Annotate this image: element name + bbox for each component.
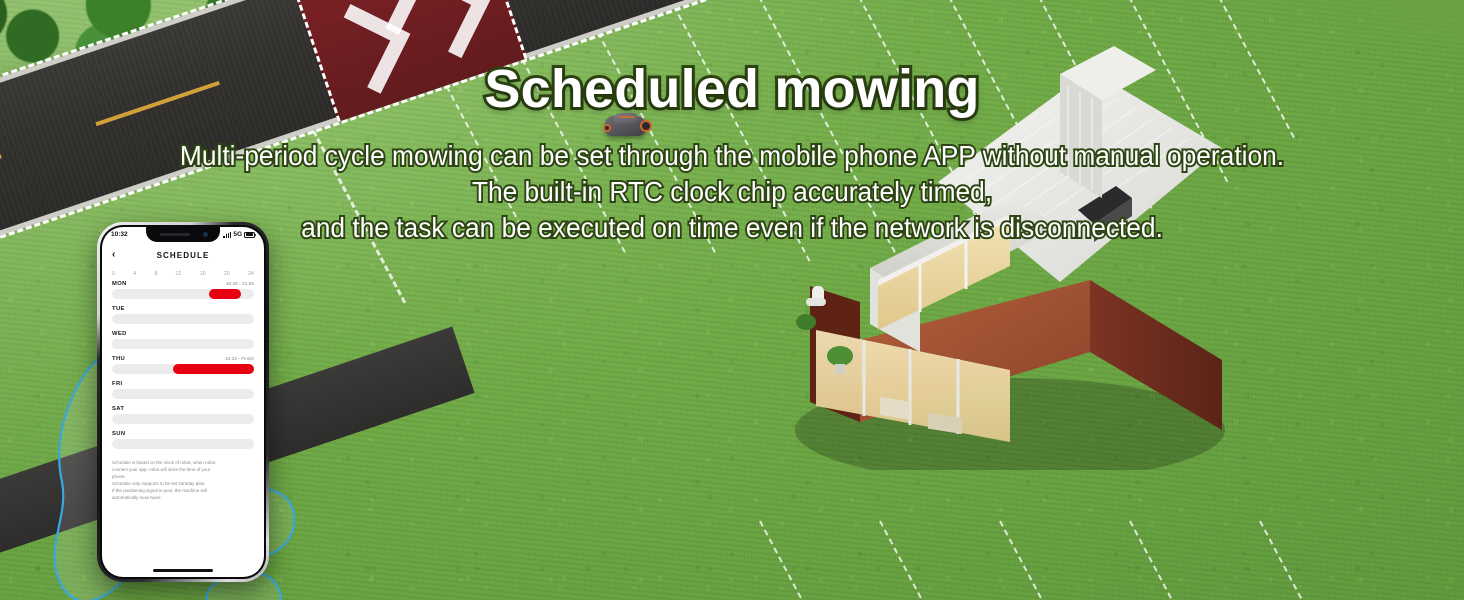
axis-tick-16: 16 [200, 271, 206, 277]
schedule-row-header: MON16:26 - 21:58 [112, 281, 254, 287]
schedule-day-label: SAT [112, 406, 124, 412]
footnote-line: connect your app, robot will store the t… [112, 467, 254, 474]
schedule-day-label: THU [112, 356, 125, 362]
schedule-day-label: TUE [112, 306, 125, 312]
network-label: 5G [233, 231, 242, 238]
time-axis: 04812162024 [102, 266, 264, 281]
schedule-row[interactable]: SUN [112, 431, 254, 449]
footnote-line: If the positioning signal is poor, the m… [112, 488, 254, 495]
schedule-row-header: SAT [112, 406, 254, 412]
schedule-track[interactable] [112, 389, 254, 399]
schedule-footnote: Schedule is based on the clock of robot,… [102, 456, 264, 502]
schedule-track[interactable] [112, 289, 254, 299]
mowing-path-line [999, 521, 1132, 600]
subtitle-line-1: Multi-period cycle mowing can be set thr… [44, 138, 1420, 174]
schedule-row-header: SUN [112, 431, 254, 437]
screen-title: SCHEDULE [157, 251, 210, 260]
schedule-row-header: TUE [112, 306, 254, 312]
schedule-active-range[interactable] [209, 289, 242, 299]
subtitle-line-2: The built-in RTC clock chip accurately t… [44, 174, 1420, 210]
phone-mockup: 10:32 5G ‹ SCHEDULE 04812162024 MON16:26… [97, 222, 269, 582]
schedule-day-label: SUN [112, 431, 125, 437]
schedule-day-label: WED [112, 331, 127, 337]
status-bar: 10:32 5G [102, 227, 264, 242]
schedule-row-header: FRI [112, 381, 254, 387]
page-title: Scheduled mowing [0, 58, 1464, 120]
schedule-time-range: 16:26 - 21:58 [226, 282, 254, 287]
schedule-active-range[interactable] [173, 364, 254, 374]
axis-tick-0: 0 [112, 271, 115, 277]
footnote-line: phone. [112, 474, 254, 481]
app-navbar: ‹ SCHEDULE [102, 244, 264, 266]
axis-tick-20: 20 [224, 271, 230, 277]
schedule-time-range: 10:32 - Finish [225, 357, 254, 362]
schedule-day-label: FRI [112, 381, 123, 387]
schedule-track[interactable] [112, 414, 254, 424]
schedule-track[interactable] [112, 339, 254, 349]
schedule-track[interactable] [112, 364, 254, 374]
status-bar-right: 5G [223, 231, 255, 238]
axis-tick-4: 4 [133, 271, 136, 277]
footnote-line: Schedule only supports to be set intrada… [112, 481, 254, 488]
scene-stage: Scheduled mowing Multi-period cycle mowi… [0, 0, 1464, 600]
status-bar-time: 10:32 [111, 231, 128, 238]
mowing-path-line [759, 521, 902, 600]
mower-wheel-right [640, 120, 652, 132]
phone-screen: 10:32 5G ‹ SCHEDULE 04812162024 MON16:26… [102, 227, 264, 577]
schedule-row[interactable]: THU10:32 - Finish [112, 356, 254, 374]
mower-wheel-left [603, 124, 611, 132]
footnote-line: automatically mow twice. [112, 495, 254, 502]
schedule-row-header: WED [112, 331, 254, 337]
axis-tick-24: 24 [248, 271, 254, 277]
schedule-row[interactable]: WED [112, 331, 254, 349]
mowing-path-line [879, 521, 1022, 600]
schedule-day-label: MON [112, 281, 127, 287]
battery-icon [244, 232, 255, 238]
schedule-row-header: THU10:32 - Finish [112, 356, 254, 362]
schedule-row[interactable]: TUE [112, 306, 254, 324]
mowing-path-line [1259, 521, 1355, 600]
schedule-row[interactable]: FRI [112, 381, 254, 399]
schedule-list: MON16:26 - 21:58TUEWEDTHU10:32 - FinishF… [102, 281, 264, 449]
schedule-track[interactable] [112, 314, 254, 324]
axis-tick-12: 12 [175, 271, 181, 277]
schedule-row[interactable]: MON16:26 - 21:58 [112, 281, 254, 299]
mowing-path-line [1129, 521, 1243, 600]
axis-tick-8: 8 [154, 271, 157, 277]
signal-bars-icon [223, 232, 231, 238]
home-indicator[interactable] [153, 569, 213, 572]
phone-bezel: 10:32 5G ‹ SCHEDULE 04812162024 MON16:26… [100, 225, 266, 579]
schedule-track[interactable] [112, 439, 254, 449]
crossing-chevron-icon [401, 0, 491, 58]
footnote-line: Schedule is based on the clock of robot,… [112, 460, 254, 467]
schedule-row[interactable]: SAT [112, 406, 254, 424]
chevron-left-icon[interactable]: ‹ [112, 250, 115, 260]
